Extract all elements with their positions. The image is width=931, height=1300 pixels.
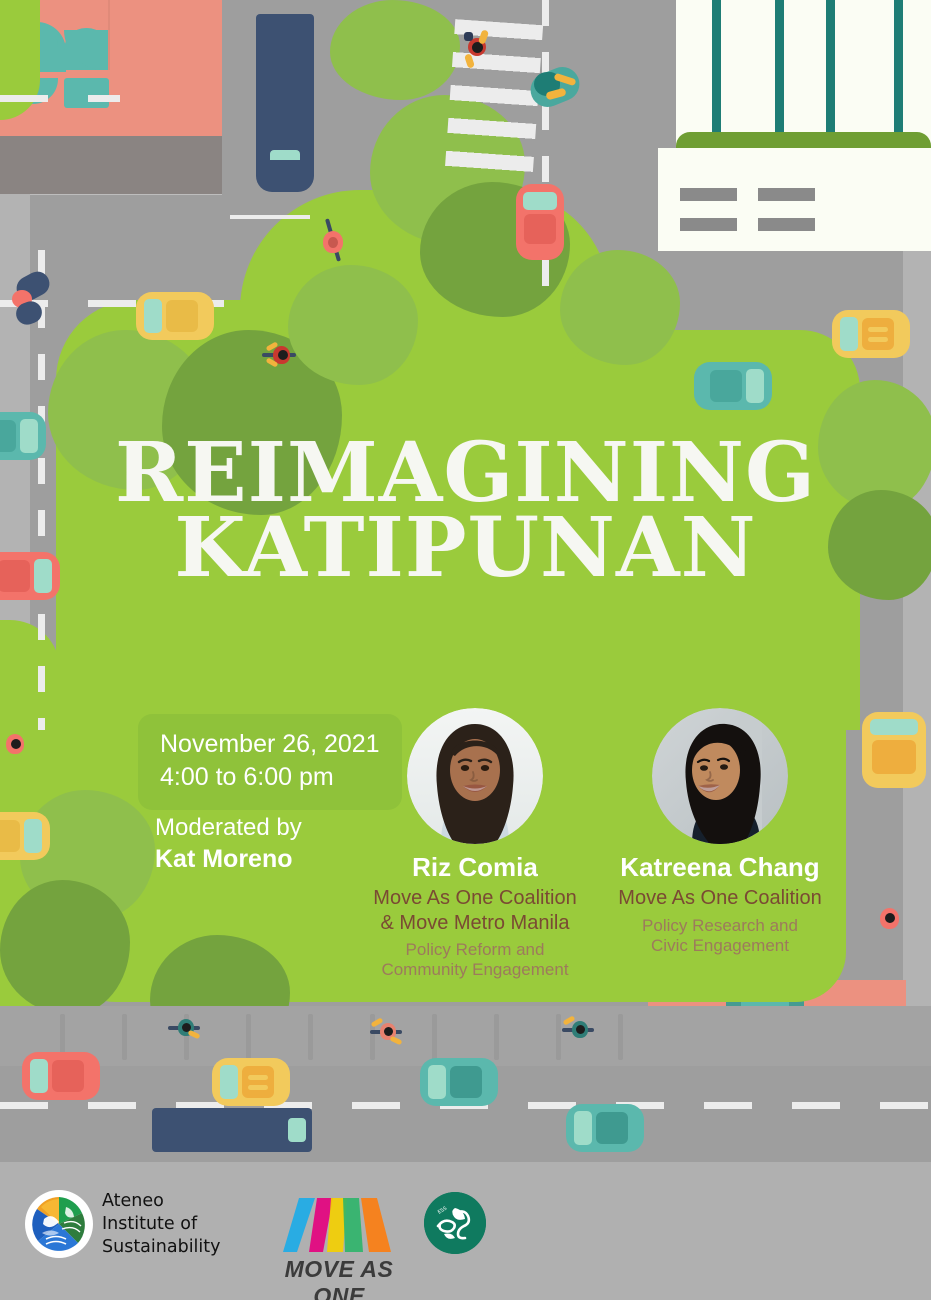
truck-top-cab [256, 160, 314, 192]
mao-wordmark: MOVE AS ONE [265, 1256, 413, 1300]
poster-canvas: Reimagining Katipunan A Sustainable Mobi… [0, 0, 931, 1300]
truck-bottom [152, 1108, 312, 1152]
car-roof [596, 1112, 628, 1144]
podium-win-1 [680, 188, 737, 201]
lane-line-upper [0, 95, 120, 102]
ais-line-2: Institute of [102, 1213, 221, 1236]
pedestrian-crosswalk [460, 28, 494, 68]
speaker-2-name: Katreena Chang [600, 852, 840, 883]
car-yellow-right-lower [862, 712, 926, 788]
poster-title: Reimagining Katipunan [0, 436, 931, 587]
podium-win-4 [758, 218, 815, 231]
cyclist-head [384, 1027, 393, 1036]
tower-windows [676, 0, 931, 152]
cyclist-arm [188, 1030, 201, 1040]
ais-circular-mark-icon [28, 1193, 90, 1255]
car-detail [868, 337, 888, 342]
moderated-by-label: Moderated by [155, 812, 302, 843]
car-roof [450, 1066, 482, 1098]
speaker-card-1: Riz Comia Move As One Coalition & Move M… [355, 708, 595, 981]
speaker-card-2: Katreena Chang Move As One Coalition Pol… [600, 708, 840, 956]
mao-bars-icon [265, 1192, 413, 1254]
car-roof [862, 318, 894, 350]
building-top-right-towers [676, 0, 931, 280]
cyclist-5 [876, 900, 910, 942]
car-windshield [746, 369, 764, 403]
car-teal-right [694, 362, 772, 410]
ais-wordmark: Ateneo Institute of Sustainability [102, 1190, 221, 1258]
pedestrian-bag [464, 32, 473, 41]
car-detail [248, 1075, 268, 1080]
car-red-upper [516, 184, 564, 260]
podium-win-3 [680, 218, 737, 231]
tree-4 [330, 0, 460, 100]
scooter-rider [528, 64, 584, 116]
speaker-1-role-line-1: Policy Reform and [355, 940, 595, 960]
car-red-bottom [22, 1052, 100, 1100]
cyclist-4 [2, 726, 34, 764]
car-roof [166, 300, 198, 332]
car-roof [524, 214, 556, 244]
car-teal-bottom-2 [566, 1104, 644, 1152]
title-text: Reimagining Katipunan [0, 436, 931, 587]
facade-seam [108, 0, 110, 70]
car-detail [248, 1085, 268, 1090]
footer-logo-bar: Ateneo Institute of Sustainability MOVE … [0, 1180, 931, 1300]
ais-line-1: Ateneo [102, 1190, 221, 1213]
car-roof [52, 1060, 84, 1092]
car-roof [0, 820, 20, 852]
bike-lane-bottom [0, 1006, 931, 1066]
car-windshield [523, 192, 557, 210]
ais-line-3: Sustainability [102, 1236, 221, 1259]
car-roof [872, 740, 916, 774]
logo-ateneo-ess: ESS [424, 1192, 486, 1254]
cyclist-arm [390, 1036, 403, 1046]
cyclist-3 [10, 274, 54, 330]
car-windshield [428, 1065, 446, 1099]
cyclist-bike-lane-1 [168, 1014, 202, 1044]
cyclist-bike-lane-3 [562, 1016, 596, 1046]
speaker-1-org-line-1: Move As One Coalition [355, 886, 595, 910]
speaker-1-avatar [407, 708, 543, 844]
building-base-band [0, 136, 222, 194]
event-time: 4:00 to 6:00 pm [160, 761, 380, 794]
car-windshield [840, 317, 858, 351]
car-yellow-left [136, 292, 214, 340]
speaker-2-role-line-2: Civic Engagement [600, 936, 840, 956]
car-windshield [870, 719, 918, 735]
cyclist-2 [262, 340, 298, 370]
speaker-1-role-line-2: Community Engagement [355, 960, 595, 980]
speaker-2-org-line-1: Move As One Coalition [600, 886, 840, 910]
tree-11 [0, 880, 130, 1015]
cyclist-head [328, 237, 338, 248]
truck-top [256, 14, 314, 176]
cyclist-bike-lane-2 [370, 1018, 404, 1048]
podium-win-2 [758, 188, 815, 201]
truck-windshield [288, 1118, 306, 1142]
street-scene-background [0, 0, 931, 1300]
tree-3 [288, 265, 418, 385]
moderator-block: Moderated by Kat Moreno [155, 812, 302, 876]
speaker-2-avatar [652, 708, 788, 844]
lane-edge-left-top [230, 215, 310, 219]
cyclist-1 [318, 218, 348, 264]
speaker-1-org-line-2: & Move Metro Manila [355, 911, 595, 935]
car-windshield [220, 1065, 238, 1099]
event-date: November 26, 2021 [160, 728, 380, 761]
title-line-2: Katipunan [0, 511, 931, 586]
cyclist-head [278, 350, 288, 360]
car-yellow-left-edge [0, 812, 50, 860]
cyclist-head [576, 1025, 585, 1034]
speaker-1-name: Riz Comia [355, 852, 595, 883]
car-teal-bottom-1 [420, 1058, 498, 1106]
speaker-2-role-line-1: Policy Research and [600, 916, 840, 936]
car-yellow-bottom [212, 1058, 290, 1106]
window-lower-right [64, 78, 109, 108]
moderator-name: Kat Moreno [155, 843, 302, 876]
car-windshield [574, 1111, 592, 1145]
pedestrian-arm [478, 29, 489, 45]
car-detail [868, 327, 888, 332]
cyclist-head [885, 913, 895, 923]
car-windshield [144, 299, 162, 333]
cyclist-head [11, 739, 21, 749]
car-windshield [30, 1059, 48, 1093]
logo-ateneo-institute-of-sustainability: Ateneo Institute of Sustainability [28, 1190, 221, 1258]
car-windshield [24, 819, 42, 853]
logo-move-as-one: MOVE AS ONE [265, 1192, 413, 1300]
tree-7 [560, 250, 680, 365]
car-yellow-right [832, 310, 910, 358]
car-roof [242, 1066, 274, 1098]
car-roof [710, 370, 742, 402]
